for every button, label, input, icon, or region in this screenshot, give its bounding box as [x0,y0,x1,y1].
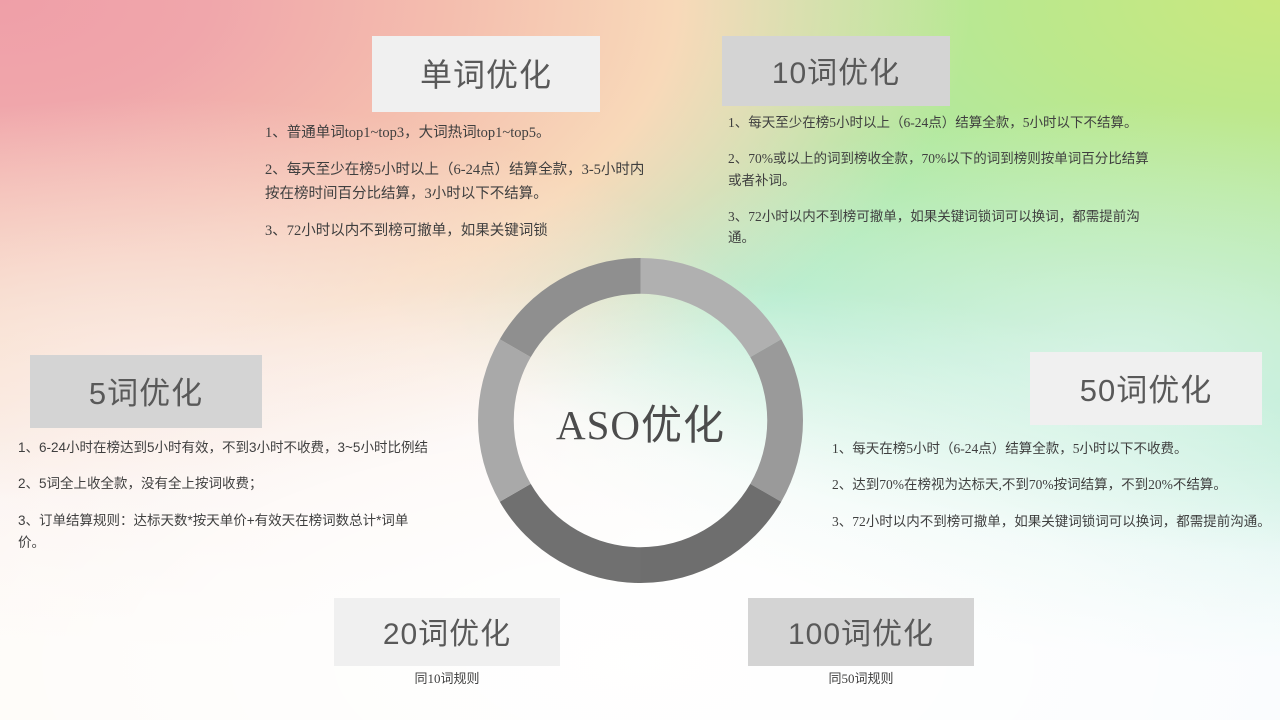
section-body-word: 1、普通单词top1~top3，大词热词top1~top5。 2、每天至少在榜5… [265,122,647,244]
body-line: 3、72小时以内不到榜可撤单，如果关键词锁词可以换词，都需提前沟通。 [728,206,1158,250]
heading-label-twenty: 20词优化 [334,598,560,666]
section-heading-twenty: 20词优化 [334,598,560,666]
heading-label-fifty: 50词优化 [1030,352,1262,425]
section-note-hundred: 同50词规则 [748,668,974,687]
donut-svg [478,258,803,583]
body-line: 2、70%或以上的词到榜收全款，70%以下的词到榜则按单词百分比结算或者补词。 [728,148,1158,192]
body-line: 1、6-24小时在榜达到5小时有效，不到3小时不收费，3~5小时比例结 [18,437,430,459]
section-body-fifty: 1、每天在榜5小时（6-24点）结算全款，5小时以下不收费。 2、达到70%在榜… [832,438,1272,533]
body-line: 3、订单结算规则：达标天数*按天单价+有效天在榜词数总计*词单价。 [18,510,430,555]
body-line: 2、5词全上收全款，没有全上按词收费； [18,473,430,495]
heading-label-word: 单词优化 [372,36,600,112]
donut-segment [641,484,782,583]
donut-chart: ASO优化 [478,258,803,583]
section-body-five: 1、6-24小时在榜达到5小时有效，不到3小时不收费，3~5小时比例结 2、5词… [18,437,430,554]
section-heading-fifty: 50词优化 [1030,352,1262,425]
section-heading-ten: 10词优化 [722,36,950,106]
section-heading-five: 5词优化 [30,355,262,428]
body-line: 2、每天至少在榜5小时以上（6-24点）结算全款，3-5小时内按在榜时间百分比结… [265,159,647,206]
body-line: 3、72小时以内不到榜可撤单，如果关键词锁词可以换词，都需提前沟通。 [832,511,1272,533]
section-body-ten: 1、每天至少在榜5小时以上（6-24点）结算全款，5小时以下不结算。 2、70%… [728,112,1158,249]
donut-segment [750,339,803,502]
body-line: 3、72小时以内不到榜可撤单，如果关键词锁 [265,220,647,243]
donut-segment [641,258,782,357]
donut-segment [478,339,531,502]
heading-label-hundred: 100词优化 [748,598,974,666]
body-line: 1、普通单词top1~top3，大词热词top1~top5。 [265,122,647,145]
heading-label-five: 5词优化 [30,355,262,428]
donut-segment [500,484,641,583]
body-line: 2、达到70%在榜视为达标天,不到70%按词结算，不到20%不结算。 [832,474,1272,496]
donut-segment [500,258,641,357]
section-note-twenty: 同10词规则 [334,668,560,687]
heading-label-ten: 10词优化 [722,36,950,106]
section-heading-hundred: 100词优化 [748,598,974,666]
body-line: 1、每天在榜5小时（6-24点）结算全款，5小时以下不收费。 [832,438,1272,460]
section-heading-word: 单词优化 [372,36,600,112]
slide-canvas: 单词优化 1、普通单词top1~top3，大词热词top1~top5。 2、每天… [0,0,1280,720]
body-line: 1、每天至少在榜5小时以上（6-24点）结算全款，5小时以下不结算。 [728,112,1158,134]
